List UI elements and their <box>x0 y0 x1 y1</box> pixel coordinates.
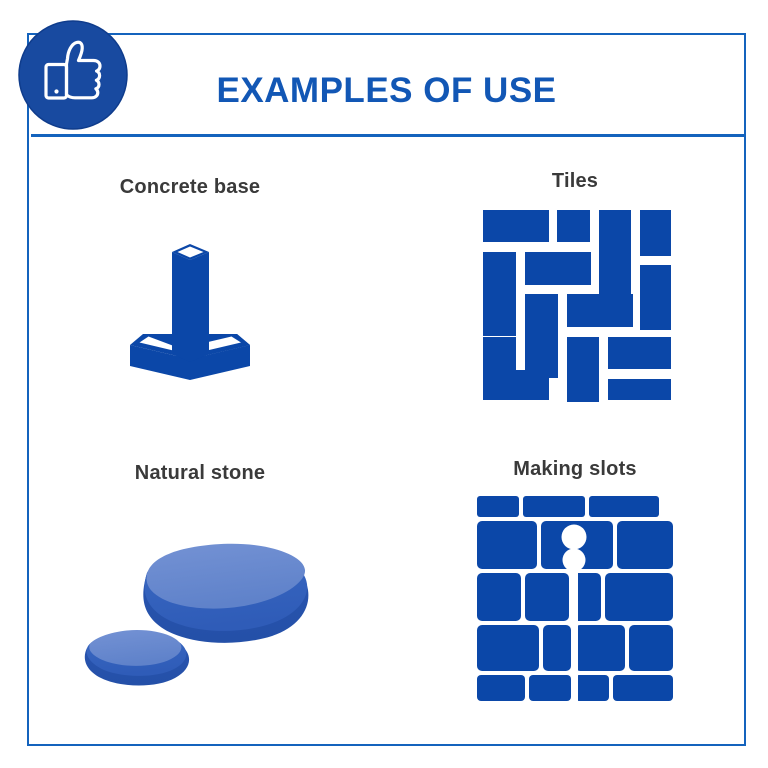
poster-root: EXAMPLES OF USE Concrete base <box>0 0 768 768</box>
tiles-illustration <box>440 206 710 402</box>
thumbs-up-icon <box>18 20 128 130</box>
panel-making-slots: Making slots <box>440 458 710 713</box>
page-title: EXAMPLES OF USE <box>27 71 746 111</box>
panel-tiles: Tiles <box>440 170 710 410</box>
slot-drill-mark-upper <box>562 525 587 550</box>
panel-natural-stone: Natural stone <box>55 462 345 712</box>
concrete-base-illustration <box>55 212 325 392</box>
header-divider <box>31 134 744 137</box>
slot-drill-mark-lower <box>563 549 586 572</box>
panel-label-concrete-base: Concrete base <box>55 176 325 199</box>
panel-label-tiles: Tiles <box>440 170 710 193</box>
panel-label-making-slots: Making slots <box>440 458 710 481</box>
making-slots-illustration <box>440 494 710 702</box>
slot-channel <box>571 551 578 702</box>
panel-concrete-base: Concrete base <box>55 176 325 406</box>
poster-header: EXAMPLES OF USE <box>27 33 746 137</box>
panel-label-natural-stone: Natural stone <box>55 462 345 485</box>
natural-stone-illustration <box>55 498 345 698</box>
